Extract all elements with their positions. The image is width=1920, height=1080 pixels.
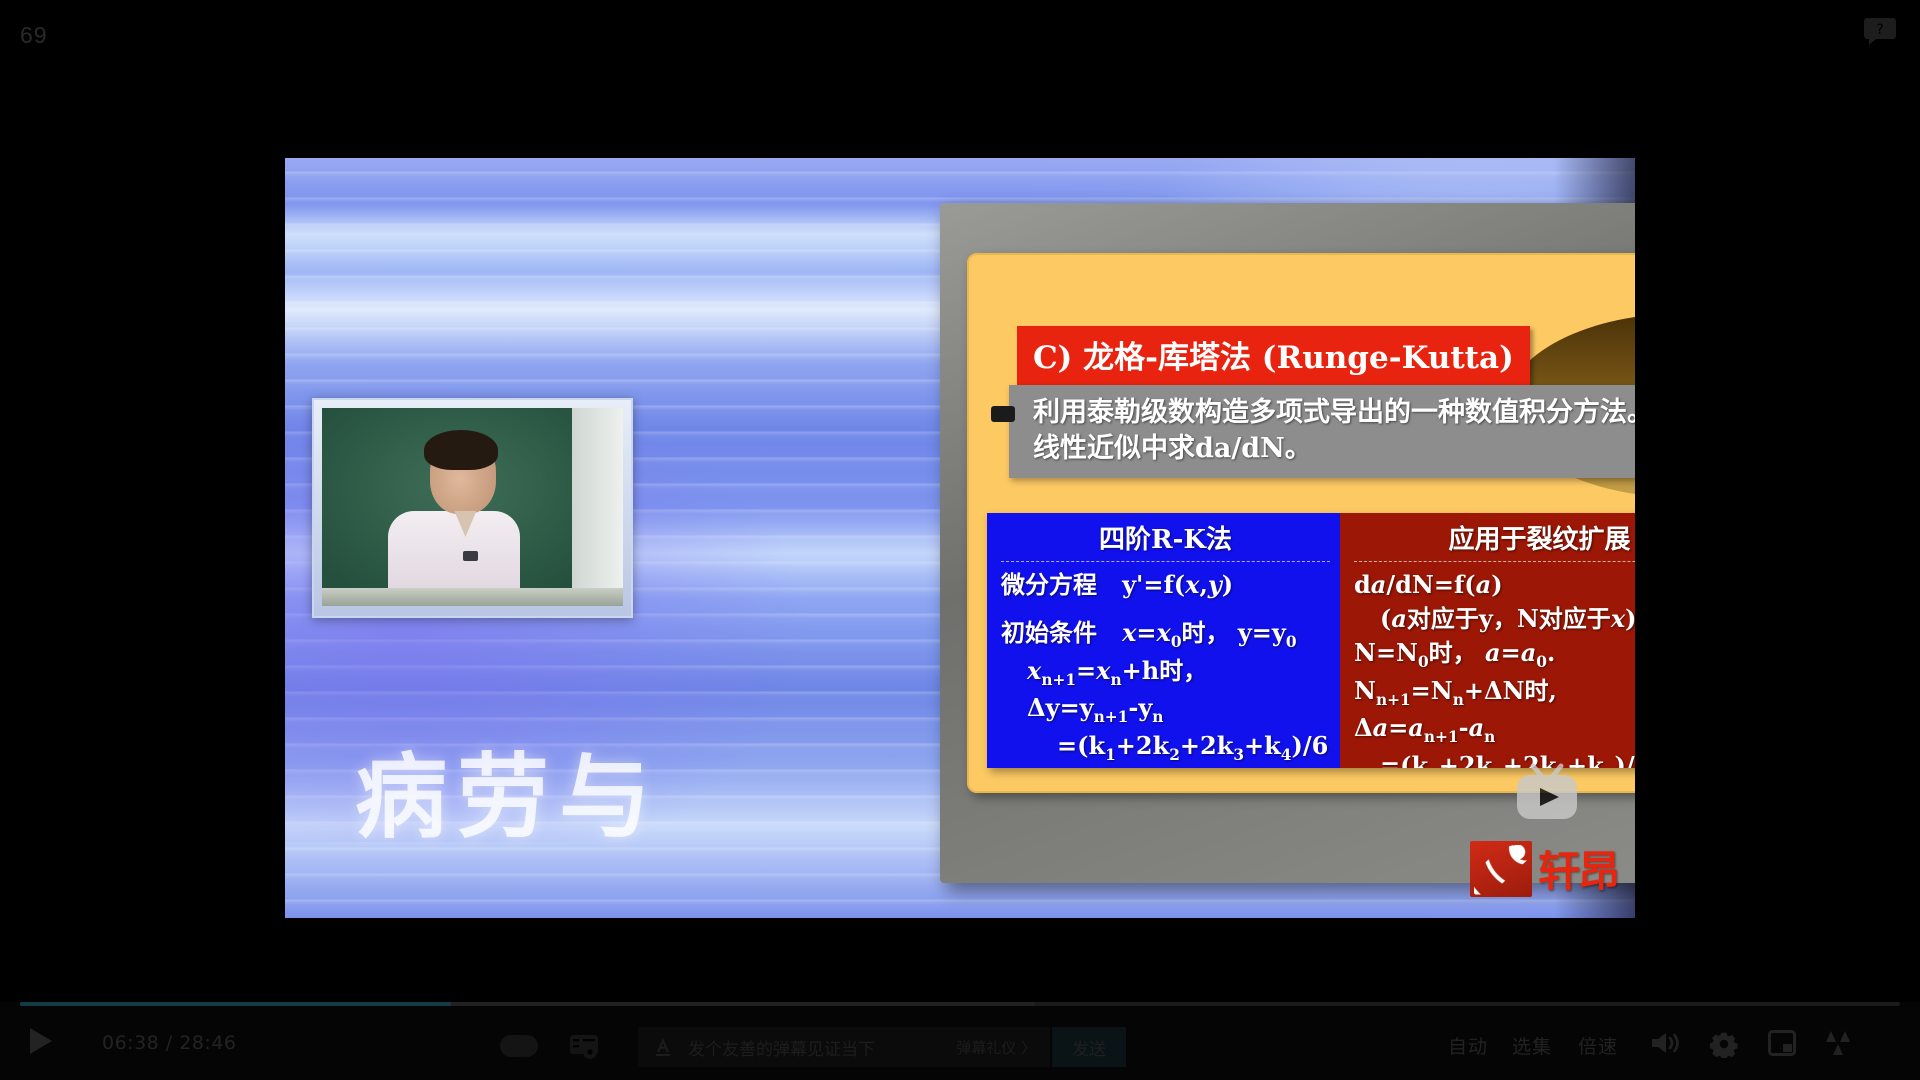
playback-speed-button[interactable]: 倍速: [1578, 1032, 1618, 1059]
chalkboard-side-panel: [572, 408, 623, 606]
shooting-star-icon: [1474, 845, 1530, 895]
slide-page: C) 龙格-库塔法 (Runge-Kutta) 利用泰勒级数构造多项式导出的一种…: [967, 253, 1635, 793]
episode-list-button[interactable]: 选集: [1512, 1032, 1552, 1059]
send-button[interactable]: 发送: [1052, 1027, 1126, 1067]
volume-icon[interactable]: [1650, 1030, 1680, 1056]
time-display: 06:38 / 28:46: [102, 1032, 237, 1054]
right-panel-line-6: =(k1+2k2+2k3+k4)/6: [1354, 749, 1635, 768]
left-panel-line-5: =(k1+2k2+2k3+k4)/6: [1001, 729, 1330, 767]
page-counter: 69: [20, 22, 48, 49]
help-bubble-icon[interactable]: ?: [1864, 18, 1896, 45]
lecturer-hair: [424, 430, 498, 470]
video-surface[interactable]: 病劳与 C) 龙格-库塔法 (Runge-Kutta) 利用泰勒级数构造多项式导…: [285, 158, 1635, 918]
widescreen-icon[interactable]: [1768, 1030, 1796, 1056]
bullet-marker: [991, 406, 1015, 422]
right-panel-line-2: (a对应于y，N对应于x): [1354, 602, 1635, 636]
left-panel-line-3: xn+1=xn+h时，: [1001, 654, 1330, 692]
slide-description: 利用泰勒级数构造多项式导出的一种数值积分方法。代替线性近似中求da/dN。: [1009, 385, 1635, 478]
left-panel-line-4: Δy=yn+1-yn: [1001, 691, 1330, 729]
left-panel-line-2: 初始条件 x=x0时， y=y0: [1001, 616, 1330, 654]
lecturer-inset-video: [322, 408, 623, 606]
right-panel-crack-growth: 应用于裂纹扩展 da/dN=f(a) (a对应于y，N对应于x) N=N0时， …: [1340, 513, 1635, 768]
left-panel-header: 四阶R-K法: [1001, 519, 1330, 562]
danmaku-etiquette-link[interactable]: 弹幕礼仪 〉: [956, 1037, 1036, 1058]
svg-text:?: ?: [1876, 22, 1883, 38]
danmaku-toggle-icon[interactable]: [500, 1035, 538, 1057]
player-control-bar: 06:38 / 28:46 发个友善的弹幕见证当下 弹幕礼仪 〉: [0, 1002, 1920, 1080]
danmaku-settings-icon[interactable]: [570, 1034, 598, 1060]
progress-played: [20, 1002, 451, 1006]
danmaku-input[interactable]: 发个友善的弹幕见证当下 弹幕礼仪 〉: [638, 1027, 1050, 1067]
station-logo-text: 轩昂: [1538, 838, 1618, 899]
right-panel-line-1: da/dN=f(a): [1354, 568, 1635, 602]
gear-icon[interactable]: [1710, 1030, 1738, 1058]
progress-bar[interactable]: [20, 1002, 1900, 1006]
tv-play-icon: [1511, 762, 1583, 826]
station-logo: 轩昂: [1470, 838, 1618, 899]
fullscreen-icon[interactable]: [1824, 1030, 1852, 1056]
video-player-page: 69 ? 病劳与: [0, 0, 1920, 1080]
program-title-overlay: 病劳与: [355, 723, 661, 856]
play-button[interactable]: [30, 1028, 52, 1054]
danmaku-placeholder: 发个友善的弹幕见证当下: [688, 1035, 956, 1060]
lecturer-microphone: [463, 551, 478, 561]
left-panel-line-1: 微分方程 y'=f(x,y): [1001, 568, 1330, 602]
left-panel-spacer: [1001, 602, 1330, 616]
right-panel-line-4: Nn+1=Nn+ΔN时,: [1354, 674, 1635, 712]
left-panel-rk-method: 四阶R-K法 微分方程 y'=f(x,y) 初始条件 x=x0时， y=y0 x…: [987, 513, 1340, 768]
quality-auto-button[interactable]: 自动: [1448, 1032, 1488, 1059]
lecture-desk: [322, 588, 623, 606]
slide-title: C) 龙格-库塔法 (Runge-Kutta): [1017, 326, 1530, 385]
top-overlay-bar: 69 ?: [0, 0, 1920, 70]
station-logo-mark: [1470, 841, 1532, 897]
right-panel-line-3: N=N0时， a=a0.: [1354, 636, 1635, 674]
slide-panels: 四阶R-K法 微分方程 y'=f(x,y) 初始条件 x=x0时， y=y0 x…: [987, 513, 1635, 768]
right-panel-header: 应用于裂纹扩展: [1354, 519, 1635, 562]
lecturer-inset-frame: [312, 398, 633, 618]
font-style-icon[interactable]: [652, 1036, 674, 1058]
right-panel-line-5: Δa=an+1-an: [1354, 711, 1635, 749]
